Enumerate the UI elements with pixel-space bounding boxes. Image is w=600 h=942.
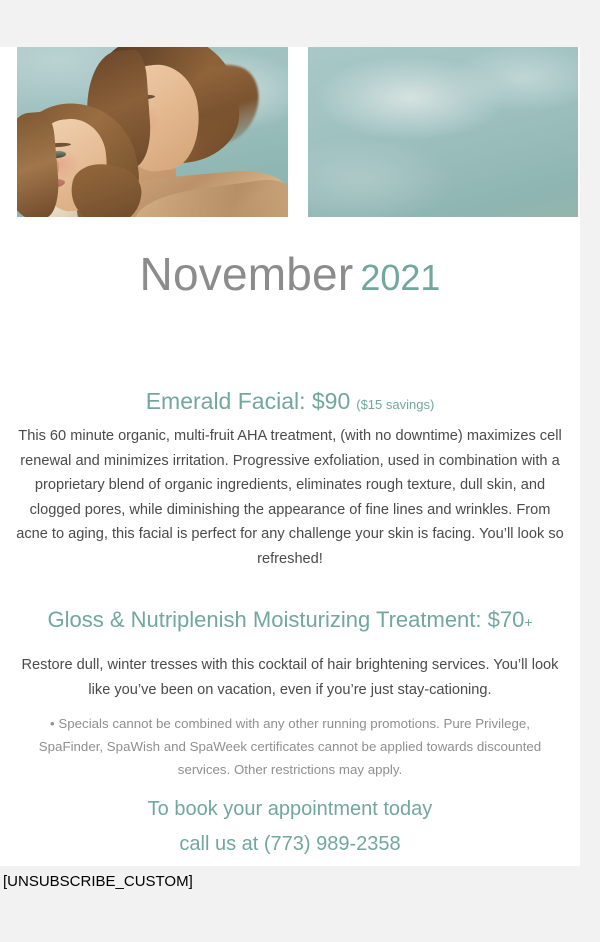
offer-1-description: This 60 minute organic, multi-fruit AHA … xyxy=(0,424,580,571)
offer-2-description: Restore dull, winter tresses with this c… xyxy=(0,653,580,702)
unsubscribe-link[interactable]: [UNSUBSCRIBE_CUSTOM] xyxy=(3,873,193,890)
offer-1-savings-note: ($15 savings) xyxy=(356,397,434,412)
offer-1-title: Emerald Facial: $90 xyxy=(146,388,351,414)
email-content-body: November2021 Emerald Facial: $90($15 sav… xyxy=(0,47,580,866)
issue-year: 2021 xyxy=(360,257,440,298)
sky-backdrop-right xyxy=(308,47,578,217)
promotion-disclaimer: • Specials cannot be combined with any o… xyxy=(0,712,580,781)
offer-2-plus-note: + xyxy=(524,614,532,630)
issue-month: November xyxy=(140,248,354,300)
hero-image-sky[interactable] xyxy=(308,47,578,217)
hero-image-row xyxy=(17,47,578,217)
offer-1-heading: Emerald Facial: $90($15 savings) xyxy=(0,388,580,415)
email-footer: [UNSUBSCRIBE_CUSTOM] xyxy=(0,866,600,942)
hero-image-models[interactable] xyxy=(17,47,288,217)
issue-date-heading: November2021 xyxy=(0,251,580,297)
cta-phone-number[interactable]: call us at (773) 989-2358 xyxy=(0,834,580,854)
offer-2-title: Gloss & Nutriplenish Moisturizing Treatm… xyxy=(47,607,524,632)
offer-2-heading: Gloss & Nutriplenish Moisturizing Treatm… xyxy=(0,607,580,633)
cta-book-appointment: To book your appointment today xyxy=(0,799,580,819)
email-page: November2021 Emerald Facial: $90($15 sav… xyxy=(0,0,600,942)
